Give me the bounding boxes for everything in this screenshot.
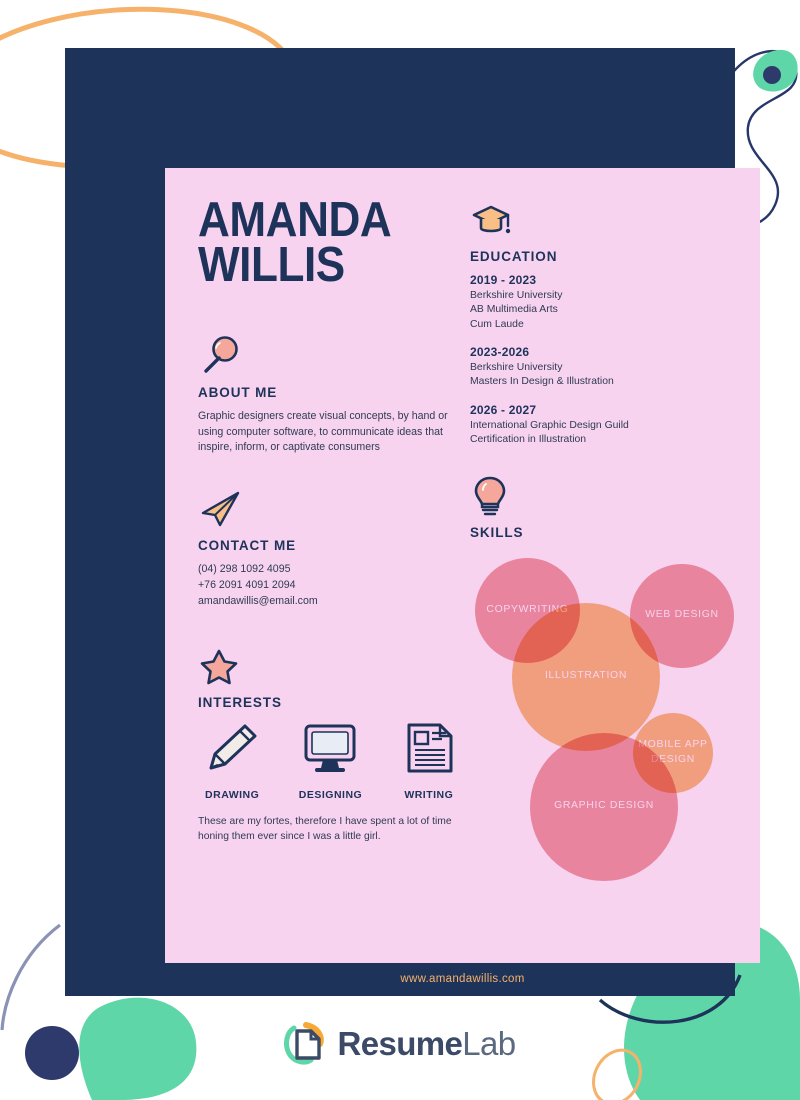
education-school: International Graphic Design Guild: [470, 419, 735, 433]
resumelab-logo: ResumeLab: [0, 1022, 800, 1066]
skills-bubble-chart: COPYWRITING WEB DESIGN ILLUSTRATION MOBI…: [465, 558, 755, 898]
contact-phone-2: +76 2091 4091 2094: [198, 578, 463, 594]
education-honor: Cum Laude: [470, 318, 735, 332]
skill-bubble-illustration: ILLUSTRATION: [512, 603, 660, 751]
name-line-1: AMANDA: [198, 198, 437, 243]
education-school: Berkshire University: [470, 289, 735, 303]
skills-heading: SKILLS: [470, 525, 735, 540]
education-heading: EDUCATION: [470, 249, 735, 264]
contact-email[interactable]: amandawillis@email.com: [198, 594, 463, 610]
about-text: Graphic designers create visual concepts…: [198, 409, 463, 455]
interest-label-designing: DESIGNING: [296, 789, 364, 801]
education-date: 2019 - 2023: [470, 273, 735, 287]
education-degree: Certification in Illustration: [470, 433, 735, 447]
interests-note: These are my fortes, therefore I have sp…: [198, 815, 463, 845]
interest-item-writing: WRITING: [395, 720, 463, 801]
paper-plane-icon: [198, 485, 463, 531]
resumelab-logo-icon: [284, 1022, 326, 1066]
magnifier-icon: [198, 332, 463, 378]
interests-icons-row: DRAWING DESIGNING: [198, 720, 463, 801]
pencil-icon: [201, 720, 263, 778]
green-blob-topright: [753, 50, 797, 92]
resume-frame: www.amandawillis.com AMANDA WILLIS ABOUT…: [65, 48, 735, 996]
document-icon: [398, 720, 460, 778]
monitor-icon: [299, 720, 361, 778]
skills-section: SKILLS COPYWRITING WEB DESIGN ILLUSTRATI…: [470, 472, 735, 898]
education-school: Berkshire University: [470, 361, 735, 375]
interest-item-drawing: DRAWING: [198, 720, 266, 801]
interests-heading: INTERESTS: [198, 695, 463, 710]
contact-phone-1: (04) 298 1092 4095: [198, 562, 463, 578]
contact-heading: CONTACT ME: [198, 538, 463, 553]
contact-section: CONTACT ME (04) 298 1092 4095 +76 2091 4…: [198, 485, 463, 610]
interests-section: INTERESTS DRAWING: [198, 642, 463, 845]
interest-label-drawing: DRAWING: [198, 789, 266, 801]
resumelab-logo-text: ResumeLab: [337, 1025, 515, 1063]
name-line-2: WILLIS: [198, 243, 437, 288]
lightbulb-icon: [470, 472, 735, 518]
education-entry: 2023-2026 Berkshire University Masters I…: [470, 345, 735, 390]
education-degree: Masters In Design & Illustration: [470, 375, 735, 389]
resume-card: AMANDA WILLIS ABOUT ME Graphic designers…: [165, 168, 760, 963]
website-url[interactable]: www.amandawillis.com: [165, 973, 760, 985]
about-section: ABOUT ME Graphic designers create visual…: [198, 332, 463, 455]
navy-curve-bottomleft: [2, 925, 60, 1030]
education-date: 2023-2026: [470, 345, 735, 359]
education-entry: 2019 - 2023 Berkshire University AB Mult…: [470, 273, 735, 332]
interest-label-writing: WRITING: [395, 789, 463, 801]
star-icon: [198, 642, 463, 688]
right-column: EDUCATION 2019 - 2023 Berkshire Universi…: [470, 196, 735, 898]
education-entry: 2026 - 2027 International Graphic Design…: [470, 403, 735, 448]
skill-bubble-graphic-design: GRAPHIC DESIGN: [530, 733, 678, 881]
interest-item-designing: DESIGNING: [296, 720, 364, 801]
page-title: AMANDA WILLIS: [198, 198, 437, 288]
navy-dot-topright: [763, 66, 781, 84]
logo-word-resume: Resume: [337, 1025, 462, 1062]
graduation-cap-icon: [470, 196, 735, 242]
logo-word-lab: Lab: [462, 1025, 515, 1062]
education-degree: AB Multimedia Arts: [470, 303, 735, 317]
left-column: AMANDA WILLIS ABOUT ME Graphic designers…: [198, 198, 463, 855]
about-heading: ABOUT ME: [198, 385, 463, 400]
education-date: 2026 - 2027: [470, 403, 735, 417]
education-section: EDUCATION 2019 - 2023 Berkshire Universi…: [470, 196, 735, 448]
